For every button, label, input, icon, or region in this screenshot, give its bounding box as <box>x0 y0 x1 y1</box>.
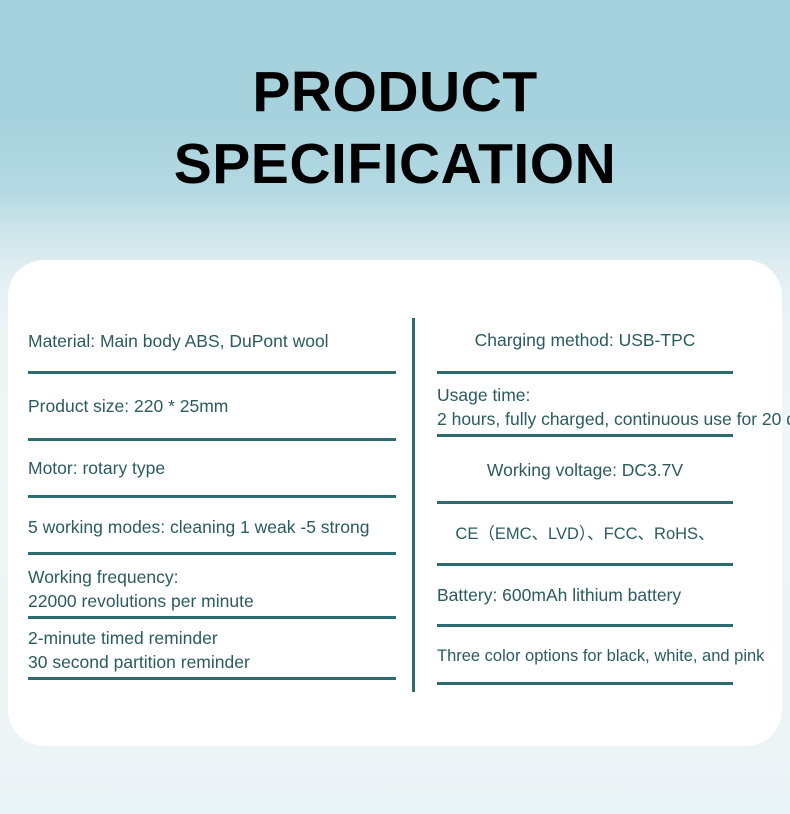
spec-usage-time-value: 2 hours, fully charged, continuous use f… <box>437 407 733 431</box>
spec-working-frequency-label: Working frequency: <box>28 565 396 589</box>
spec-row-battery: Battery: 600mAh lithium battery <box>437 566 733 627</box>
spec-partition-reminder-text: 30 second partition reminder <box>28 650 396 674</box>
spec-row-working-frequency: Working frequency: 22000 revolutions per… <box>28 555 396 619</box>
spec-working-frequency-value: 22000 revolutions per minute <box>28 589 396 613</box>
spec-row-motor: Motor: rotary type <box>28 441 396 498</box>
spec-row-usage-time: Usage time: 2 hours, fully charged, cont… <box>437 374 733 437</box>
spec-row-color-options: Three color options for black, white, an… <box>437 627 733 685</box>
spec-working-modes-text: 5 working modes: cleaning 1 weak -5 stro… <box>28 498 396 552</box>
column-divider <box>412 318 415 692</box>
spec-row-timed-reminder: 2-minute timed reminder 30 second partit… <box>28 619 396 680</box>
spec-usage-time-label: Usage time: <box>437 383 733 407</box>
spec-timed-reminder-text: 2-minute timed reminder <box>28 626 396 650</box>
right-spec-column: Charging method: USB-TPC Usage time: 2 h… <box>437 318 733 685</box>
spec-charging-method-text: Charging method: USB-TPC <box>437 318 733 371</box>
spec-row-charging-method: Charging method: USB-TPC <box>437 318 733 374</box>
spec-row-certifications: CE（EMC、LVD）、FCC、RoHS、 <box>437 504 733 566</box>
spec-certifications-text: CE（EMC、LVD）、FCC、RoHS、 <box>437 504 733 563</box>
spec-color-options-text: Three color options for black, white, an… <box>437 627 785 682</box>
title-line-1: PRODUCT <box>0 56 790 128</box>
spec-row-working-modes: 5 working modes: cleaning 1 weak -5 stro… <box>28 498 396 555</box>
page-title: PRODUCT SPECIFICATION <box>0 56 790 200</box>
spec-battery-text: Battery: 600mAh lithium battery <box>437 566 733 624</box>
left-spec-column: Material: Main body ABS, DuPont wool Pro… <box>28 318 396 680</box>
spec-row-product-size: Product size: 220 * 25mm <box>28 374 396 441</box>
title-line-2: SPECIFICATION <box>0 128 790 200</box>
spec-material-text: Material: Main body ABS, DuPont wool <box>28 318 396 371</box>
spec-rule <box>28 677 396 680</box>
spec-working-voltage-text: Working voltage: DC3.7V <box>437 437 733 501</box>
product-specification-page: PRODUCT SPECIFICATION Material: Main bod… <box>0 0 790 814</box>
spec-motor-text: Motor: rotary type <box>28 441 396 495</box>
spec-rule <box>437 682 733 685</box>
spec-row-material: Material: Main body ABS, DuPont wool <box>28 318 396 374</box>
spec-product-size-text: Product size: 220 * 25mm <box>28 374 396 438</box>
spec-row-working-voltage: Working voltage: DC3.7V <box>437 437 733 504</box>
